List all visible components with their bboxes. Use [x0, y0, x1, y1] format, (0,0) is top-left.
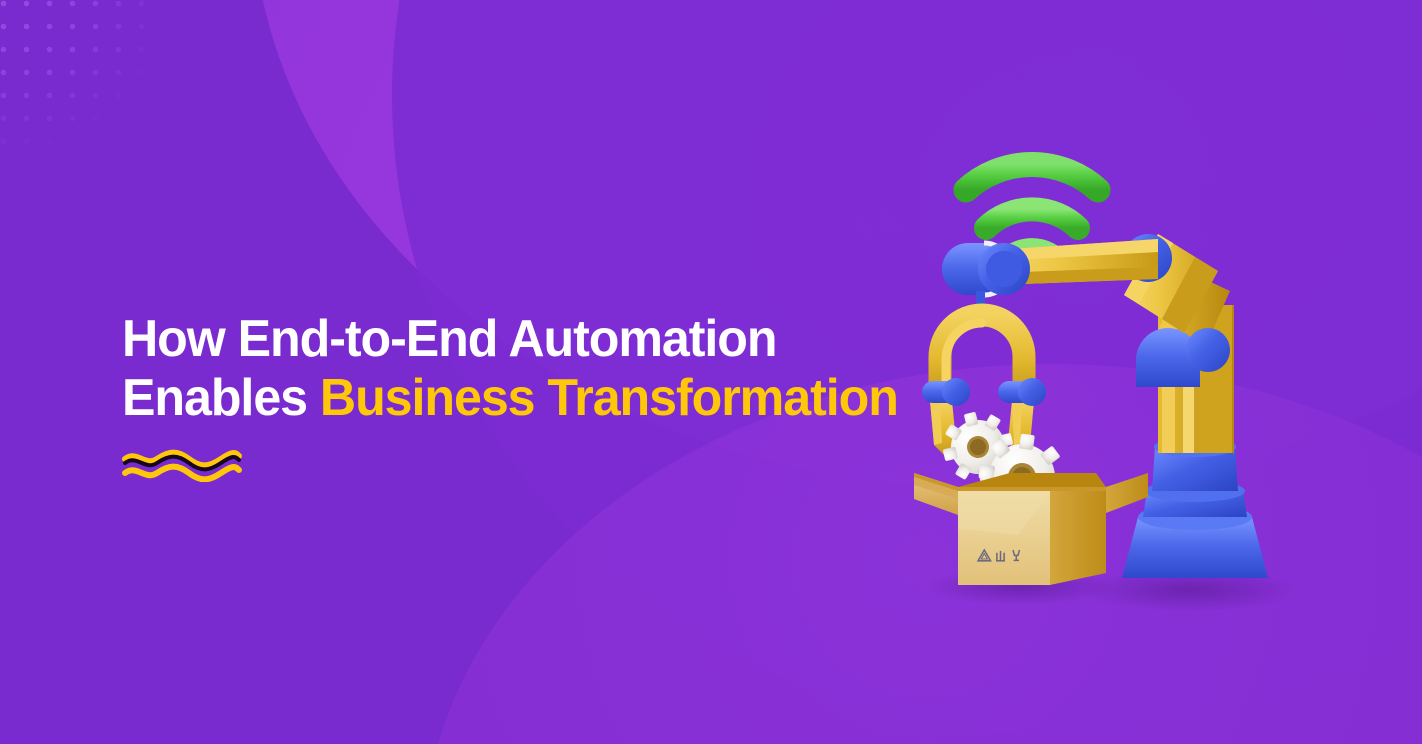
squiggle-yellow-bottom: [125, 467, 239, 480]
headline-block: How End-to-End Automation Enables Busine…: [122, 310, 912, 428]
shipping-box: [914, 473, 1148, 585]
wrist-cap-inner: [986, 251, 1022, 287]
robot-base: [1122, 437, 1268, 578]
robot-automation-illustration: [900, 95, 1320, 615]
headline-line-2: Enables Business Transformation: [122, 369, 884, 428]
gripper-pivot-right: [1018, 378, 1046, 406]
gripper-pivot-left: [942, 378, 970, 406]
dot-grid-pattern: [0, 0, 202, 192]
box-flap-right: [1106, 473, 1148, 513]
headline-prefix: Enables: [122, 369, 320, 427]
elbow-pivot: [1186, 328, 1230, 372]
headline-accent: Business Transformation: [320, 369, 898, 427]
headline-line-1: How End-to-End Automation: [122, 310, 884, 369]
automation-blog-banner: How End-to-End Automation Enables Busine…: [0, 0, 1422, 744]
wavy-underline: [122, 448, 242, 482]
gripper-finger-left-hl: [930, 401, 942, 445]
wifi-arc-middle: [986, 209, 1078, 228]
box-right-face: [1050, 491, 1106, 585]
wifi-arc-outer: [966, 164, 1098, 190]
